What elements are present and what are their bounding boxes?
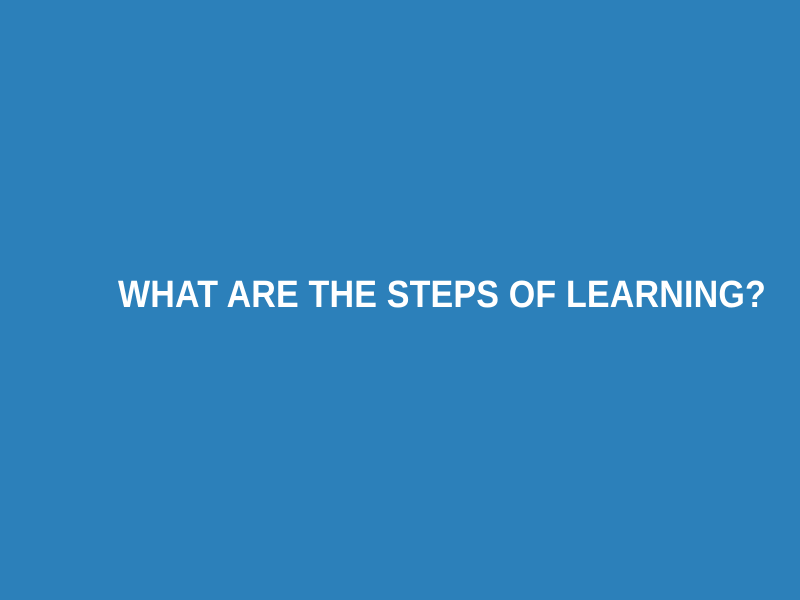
page-title-text: WHAT ARE THE STEPS OF LEARNING? (118, 273, 766, 317)
page-title: WHAT ARE THE STEPS OF LEARNING? (80, 273, 720, 317)
banner-canvas: WHAT ARE THE STEPS OF LEARNING? (0, 0, 800, 600)
headline-container: WHAT ARE THE STEPS OF LEARNING? (0, 0, 800, 600)
